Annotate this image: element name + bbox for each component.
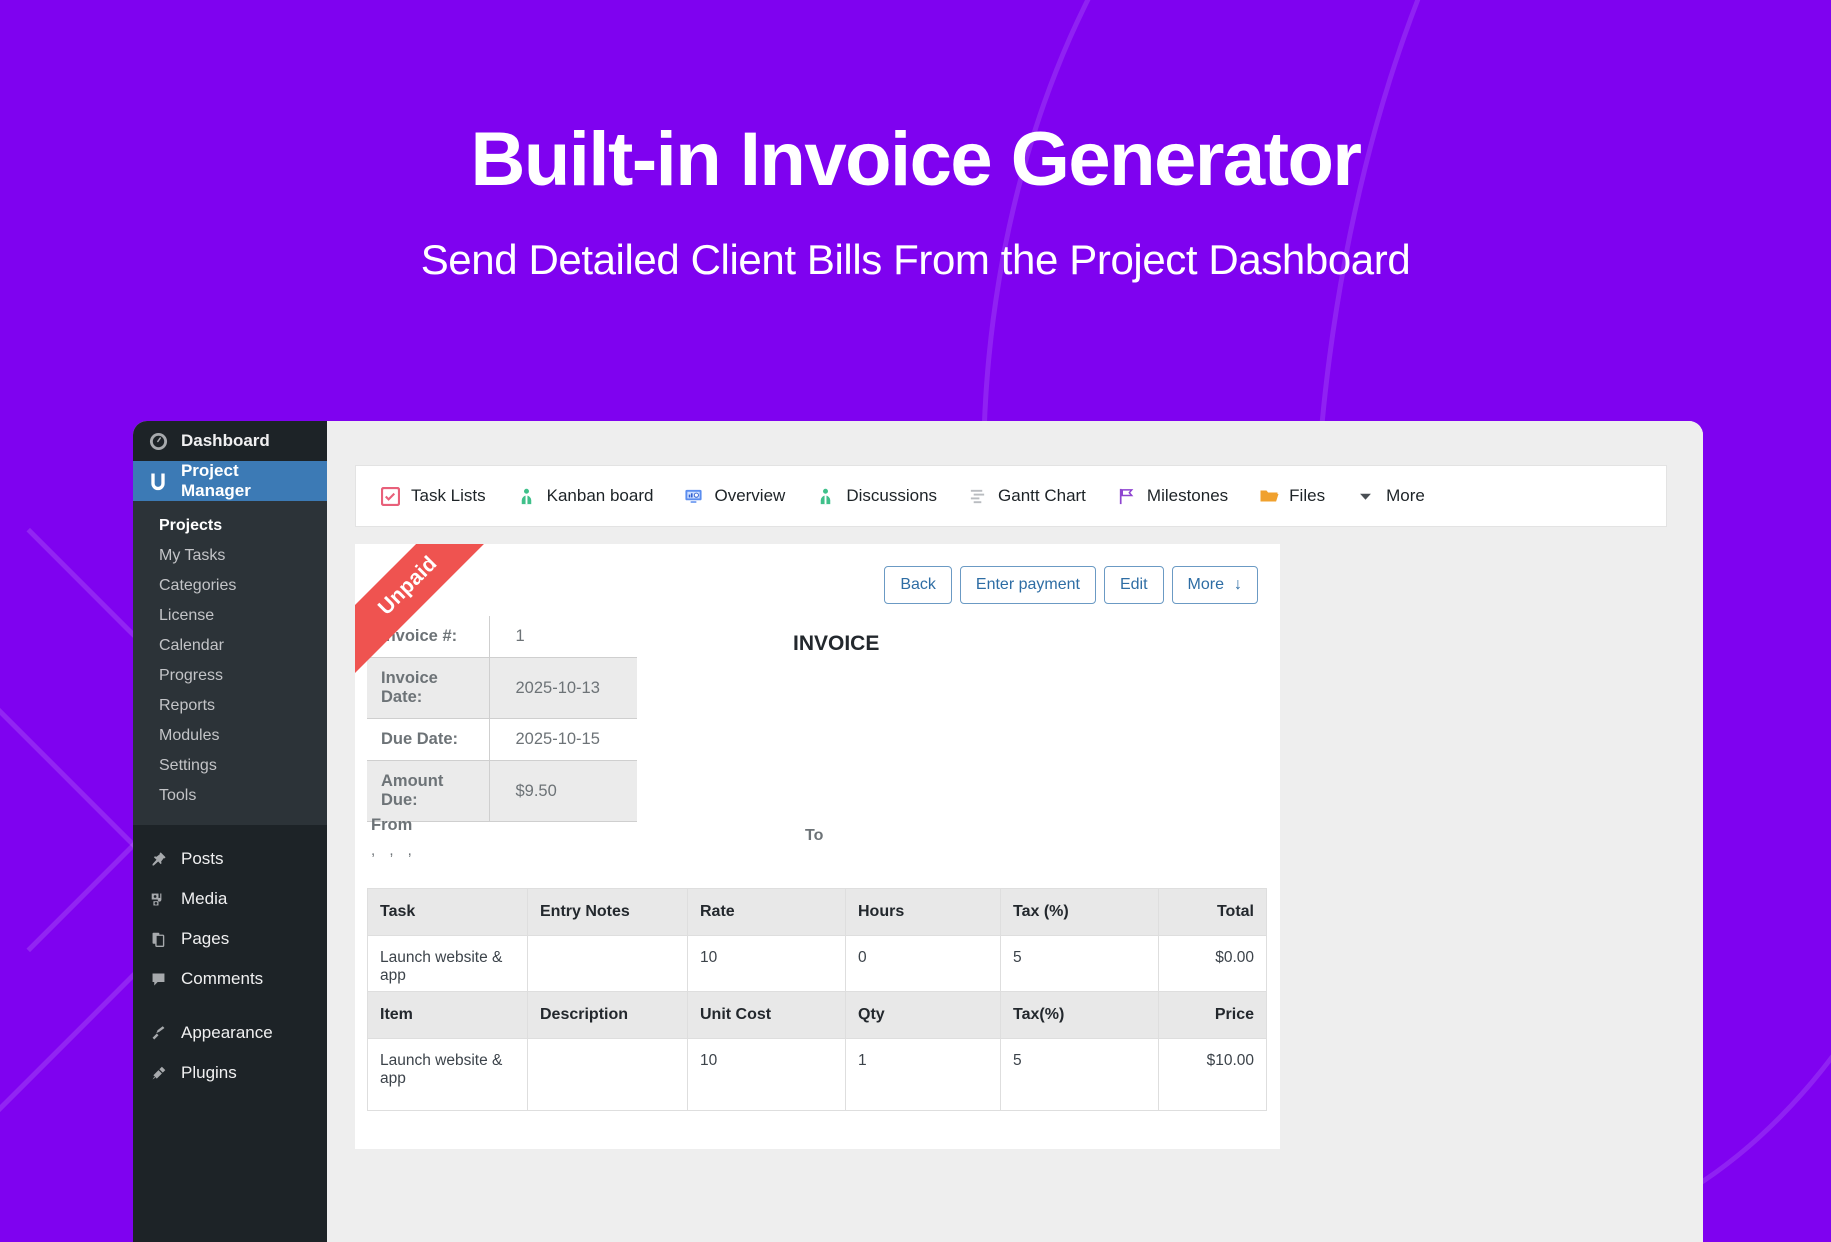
sidebar-item-label: Pages [181, 929, 229, 949]
sidebar-divider [133, 825, 327, 839]
column-header: Hours [846, 889, 1001, 936]
tab-label: More [1386, 486, 1425, 506]
sidebar-item-pages[interactable]: Pages [133, 919, 327, 959]
column-header: Description [528, 992, 688, 1039]
cell-description [528, 1039, 688, 1111]
cell-rate: 10 [688, 936, 846, 999]
meta-value: $9.50 [489, 761, 637, 822]
sidebar-item-appearance[interactable]: Appearance [133, 1013, 327, 1053]
table-row: Amount Due: $9.50 [367, 761, 637, 822]
flag-icon [1116, 486, 1137, 507]
column-header: Item [368, 992, 528, 1039]
column-header: Task [368, 889, 528, 936]
sidebar-item-reports[interactable]: Reports [133, 691, 327, 721]
cell-item: Launch website & app [368, 1039, 528, 1111]
pages-icon [147, 931, 169, 948]
gantt-list-icon [967, 486, 988, 507]
items-table: Item Description Unit Cost Qty Tax(%) Pr… [367, 991, 1267, 1111]
table-row: Invoice Date: 2025-10-13 [367, 658, 637, 719]
column-header: Tax (%) [1001, 889, 1159, 936]
cell-hours: 0 [846, 936, 1001, 999]
column-header: Unit Cost [688, 992, 846, 1039]
cell-tax: 5 [1001, 936, 1159, 999]
discussions-people-icon [815, 486, 836, 507]
project-manager-submenu: Projects My Tasks Categories License Cal… [133, 501, 327, 825]
tab-label: Kanban board [547, 486, 654, 506]
invoice-meta-table: Invoice #: 1 Invoice Date: 2025-10-13 Du… [367, 616, 637, 822]
kanban-people-icon [516, 486, 537, 507]
sidebar-item-tools[interactable]: Tools [133, 781, 327, 811]
cell-price: $10.00 [1159, 1039, 1267, 1111]
browser-window: Dashboard Project Manager Projects My Ta… [133, 421, 1703, 1242]
sidebar-item-media[interactable]: Media [133, 879, 327, 919]
cell-tax: 5 [1001, 1039, 1159, 1111]
arrow-down-icon: ↓ [1234, 576, 1242, 594]
sidebar-item-categories[interactable]: Categories [133, 571, 327, 601]
tab-milestones[interactable]: Milestones [1116, 486, 1228, 507]
main-content: Task Lists Kanban board Overview Discuss… [327, 421, 1703, 1242]
sidebar-item-posts[interactable]: Posts [133, 839, 327, 879]
invoice-heading: INVOICE [793, 632, 879, 656]
pin-icon [147, 851, 169, 868]
sidebar-divider-2 [133, 999, 327, 1013]
sidebar-item-license[interactable]: License [133, 601, 327, 631]
sidebar-item-my-tasks[interactable]: My Tasks [133, 541, 327, 571]
chevron-down-icon [1355, 486, 1376, 507]
back-button[interactable]: Back [884, 566, 952, 604]
sidebar-item-calendar[interactable]: Calendar [133, 631, 327, 661]
column-header: Entry Notes [528, 889, 688, 936]
table-row: Launch website & app 10 1 5 $10.00 [368, 1039, 1267, 1111]
project-tab-bar: Task Lists Kanban board Overview Discuss… [355, 465, 1667, 527]
sidebar-item-label: Plugins [181, 1063, 237, 1083]
sidebar-item-dashboard[interactable]: Dashboard [133, 421, 327, 461]
comment-icon [147, 971, 169, 988]
to-label: To [805, 827, 823, 845]
table-row: Invoice #: 1 [367, 616, 637, 658]
hero-title: Built-in Invoice Generator [0, 122, 1831, 198]
sidebar-item-label: Posts [181, 849, 224, 869]
cell-total: $0.00 [1159, 936, 1267, 999]
column-header: Total [1159, 889, 1267, 936]
tab-kanban-board[interactable]: Kanban board [516, 486, 654, 507]
tab-gantt-chart[interactable]: Gantt Chart [967, 486, 1086, 507]
folder-icon [1258, 486, 1279, 507]
hero-subtitle: Send Detailed Client Bills From the Proj… [0, 236, 1831, 284]
tab-overview[interactable]: Overview [683, 486, 785, 507]
meta-value: 1 [489, 616, 637, 658]
sidebar-item-label: Appearance [181, 1023, 273, 1043]
invoice-card: Unpaid Back Enter payment Edit More ↓ IN… [355, 544, 1280, 1149]
column-header: Rate [688, 889, 846, 936]
sidebar-item-project-manager[interactable]: Project Manager [133, 461, 327, 501]
tab-task-lists[interactable]: Task Lists [380, 486, 486, 507]
column-header: Price [1159, 992, 1267, 1039]
sidebar-item-comments[interactable]: Comments [133, 959, 327, 999]
cell-entry-notes [528, 936, 688, 999]
sidebar-item-settings[interactable]: Settings [133, 751, 327, 781]
checkbox-icon [380, 486, 401, 507]
meta-key: Invoice Date: [367, 658, 489, 719]
table-header-row: Item Description Unit Cost Qty Tax(%) Pr… [368, 992, 1267, 1039]
sidebar-item-label: Dashboard [181, 431, 270, 451]
sidebar-item-plugins[interactable]: Plugins [133, 1053, 327, 1093]
monitor-chart-icon [683, 486, 704, 507]
invoice-action-bar: Back Enter payment Edit More ↓ [884, 566, 1258, 604]
sidebar-item-modules[interactable]: Modules [133, 721, 327, 751]
wp-admin-sidebar: Dashboard Project Manager Projects My Ta… [133, 421, 327, 1242]
media-icon [147, 891, 169, 908]
sidebar-item-label: Project Manager [181, 461, 313, 501]
tab-label: Files [1289, 486, 1325, 506]
tab-label: Milestones [1147, 486, 1228, 506]
meta-key: Amount Due: [367, 761, 489, 822]
sidebar-item-progress[interactable]: Progress [133, 661, 327, 691]
plug-icon [147, 1065, 169, 1082]
tab-label: Overview [714, 486, 785, 506]
brush-icon [147, 1025, 169, 1042]
meta-value: 2025-10-13 [489, 658, 637, 719]
meta-value: 2025-10-15 [489, 719, 637, 761]
sidebar-item-label: Media [181, 889, 227, 909]
tab-label: Gantt Chart [998, 486, 1086, 506]
hero-section: Built-in Invoice Generator Send Detailed… [0, 0, 1831, 284]
edit-button[interactable]: Edit [1104, 566, 1164, 604]
sidebar-item-label: Comments [181, 969, 263, 989]
table-header-row: Task Entry Notes Rate Hours Tax (%) Tota… [368, 889, 1267, 936]
cell-task: Launch website & app [368, 936, 528, 999]
tab-discussions[interactable]: Discussions [815, 486, 937, 507]
tab-more[interactable]: More [1355, 486, 1425, 507]
table-row: Launch website & app 10 0 5 $0.00 [368, 936, 1267, 999]
tab-files[interactable]: Files [1258, 486, 1325, 507]
more-button-label: More [1188, 576, 1224, 594]
cell-unit-cost: 10 [688, 1039, 846, 1111]
tasks-table: Task Entry Notes Rate Hours Tax (%) Tota… [367, 888, 1267, 999]
from-address: , , , [371, 842, 417, 859]
more-button[interactable]: More ↓ [1172, 566, 1258, 604]
enter-payment-button[interactable]: Enter payment [960, 566, 1096, 604]
table-row: Due Date: 2025-10-15 [367, 719, 637, 761]
cell-qty: 1 [846, 1039, 1001, 1111]
project-manager-icon [147, 471, 169, 491]
tab-label: Task Lists [411, 486, 486, 506]
sidebar-item-projects[interactable]: Projects [133, 511, 327, 541]
from-label: From [371, 816, 412, 835]
meta-key: Due Date: [367, 719, 489, 761]
tab-label: Discussions [846, 486, 937, 506]
dashboard-icon [147, 432, 169, 451]
column-header: Tax(%) [1001, 992, 1159, 1039]
column-header: Qty [846, 992, 1001, 1039]
